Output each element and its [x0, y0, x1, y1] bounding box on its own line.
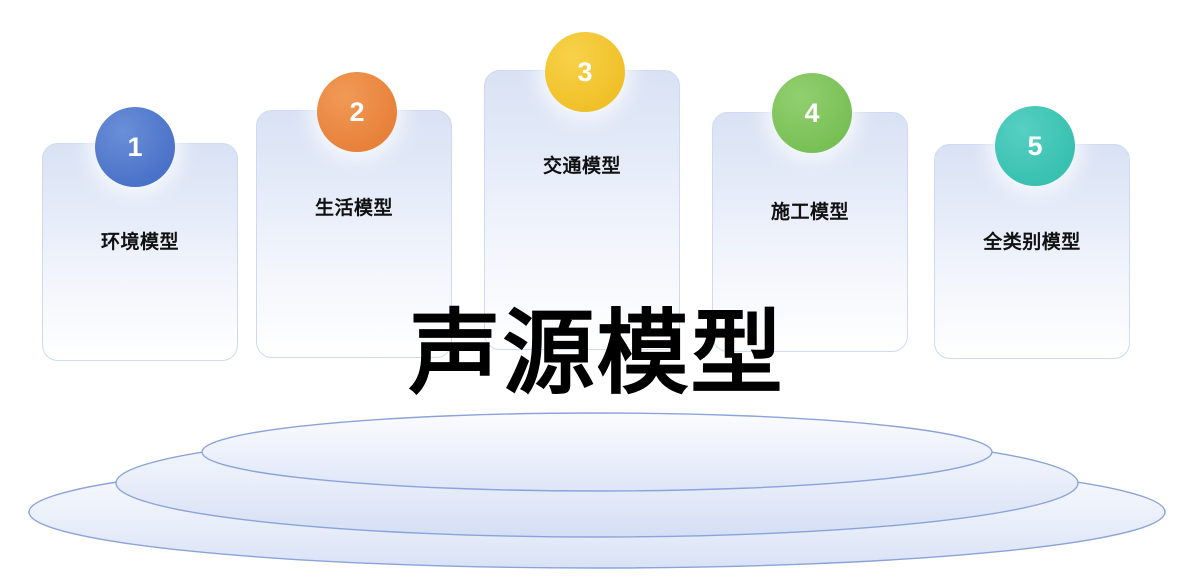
pedestal-tier-top — [202, 413, 992, 491]
step-badge-2[interactable]: 2 — [317, 72, 397, 152]
model-card-3-label: 交通模型 — [485, 151, 679, 178]
model-card-2-label: 生活模型 — [257, 193, 451, 220]
step-badge-1[interactable]: 1 — [95, 107, 175, 187]
infographic-stage: 环境模型 生活模型 交通模型 施工模型 全类别模型 1 2 3 4 5 声源模型 — [0, 0, 1193, 578]
step-badge-5[interactable]: 5 — [995, 106, 1075, 186]
model-card-4-label: 施工模型 — [713, 197, 907, 224]
step-badge-3[interactable]: 3 — [545, 32, 625, 112]
model-card-5-label: 全类别模型 — [935, 227, 1129, 254]
page-title: 声源模型 — [0, 308, 1193, 400]
model-card-1-label: 环境模型 — [43, 227, 237, 254]
step-badge-4[interactable]: 4 — [772, 73, 852, 153]
